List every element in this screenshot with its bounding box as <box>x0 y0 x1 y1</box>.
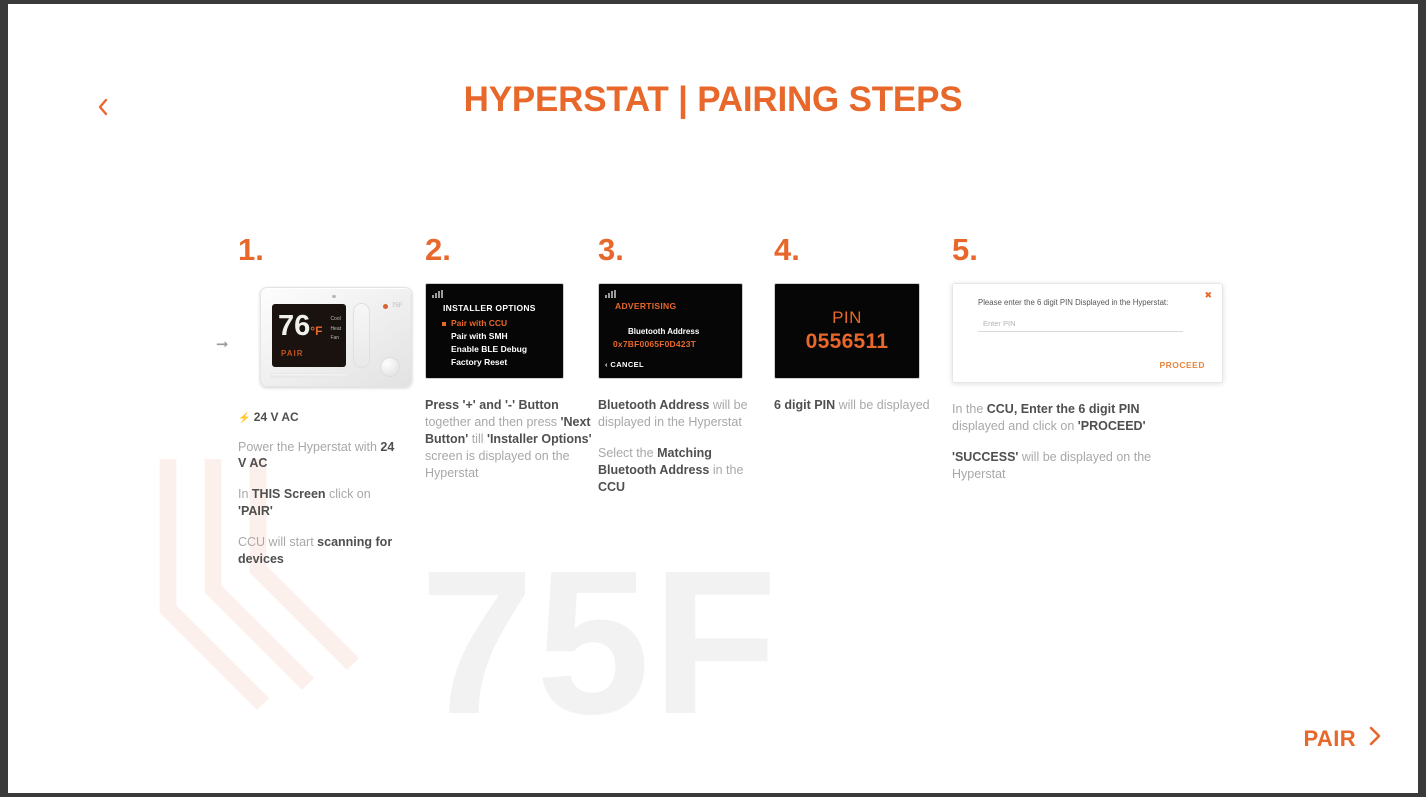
arrow-right-icon: ➞ <box>216 337 229 352</box>
screen-title: INSTALLER OPTIONS <box>443 303 536 313</box>
thermostat-knob <box>380 357 400 377</box>
screen-title: ADVERTISING <box>615 301 676 311</box>
step-number: 1. <box>238 234 406 265</box>
step-visual: ➞ 76°F Cool Heat Fan PAIR <box>238 283 406 391</box>
dialog-message: Please enter the 6 digit PIN Displayed i… <box>978 297 1178 309</box>
signal-bars-icon <box>432 290 443 298</box>
step-visual: PIN 0556511 <box>774 283 934 379</box>
pin-entry-dialog: ✖ Please enter the 6 digit PIN Displayed… <box>952 283 1223 383</box>
caption-paragraphs: 6 digit PIN will be displayed <box>774 397 934 414</box>
menu-item-factory-reset[interactable]: Factory Reset <box>443 356 527 369</box>
temperature-value: 76 <box>278 310 310 342</box>
caption-paragraph: Select the Matching Bluetooth Address in… <box>598 445 763 496</box>
pin-label: PIN <box>832 309 862 328</box>
thermostat-display: 76°F Cool Heat Fan PAIR <box>272 304 346 367</box>
pin-screen: PIN 0556511 <box>774 283 920 379</box>
thermostat-led <box>383 304 388 309</box>
step-4: 4. PIN 0556511 6 digit PIN will be displ… <box>774 234 934 414</box>
step-visual: INSTALLER OPTIONS Pair with CCU Pair wit… <box>425 283 595 379</box>
step-number: 4. <box>774 234 934 265</box>
step-visual: ADVERTISING Bluetooth Address 0x7BF0065F… <box>598 283 763 379</box>
thermostat-pair-label: PAIR <box>281 349 304 358</box>
bolt-icon: ⚡ <box>238 413 250 424</box>
cancel-label: CANCEL <box>610 360 644 369</box>
menu-item-pair-with-smh[interactable]: Pair with SMH <box>443 330 527 343</box>
thermostat-lower-trim <box>270 373 348 378</box>
menu-item-pair-with-ccu[interactable]: Pair with CCU <box>443 317 527 330</box>
installer-options-screen: INSTALLER OPTIONS Pair with CCU Pair wit… <box>425 283 564 379</box>
step-2: 2. INSTALLER OPTIONS Pair with CCU Pair … <box>425 234 595 481</box>
step-number: 5. <box>952 234 1192 265</box>
step-caption: 6 digit PIN will be displayed <box>774 397 934 414</box>
caption-paragraph: 'SUCCESS' will be displayed on the Hyper… <box>952 449 1192 483</box>
proceed-button[interactable]: PROCEED <box>1159 360 1205 370</box>
thermostat-photo: ➞ 76°F Cool Heat Fan PAIR <box>238 283 418 391</box>
step-caption: In the CCU, Enter the 6 digit PIN displa… <box>952 401 1192 483</box>
mode-row: Fan <box>330 334 341 344</box>
caption-paragraphs: Bluetooth Address will be displayed in t… <box>598 397 763 495</box>
step-caption: ⚡ 24 V AC Power the Hyperstat with 24 V … <box>238 409 406 568</box>
bluetooth-address-label: Bluetooth Address <box>628 327 699 336</box>
menu-item-enable-ble-debug[interactable]: Enable BLE Debug <box>443 343 527 356</box>
chevron-right-icon <box>1367 725 1383 752</box>
pairing-steps-row: 1. ➞ 76°F Cool Heat Fan <box>8 234 1418 564</box>
advertising-screen: ADVERTISING Bluetooth Address 0x7BF0065F… <box>598 283 743 379</box>
thermostat-mode-rows: Cool Heat Fan <box>330 315 341 344</box>
pair-label: PAIR <box>1303 726 1356 752</box>
caption-paragraph: 6 digit PIN will be displayed <box>774 397 934 414</box>
caption-paragraph: Bluetooth Address will be displayed in t… <box>598 397 763 431</box>
step-caption: Bluetooth Address will be displayed in t… <box>598 397 763 495</box>
step-visual: ✖ Please enter the 6 digit PIN Displayed… <box>952 283 1192 383</box>
caption-paragraph: Power the Hyperstat with 24 V AC <box>238 439 406 473</box>
thermostat-sensor <box>332 295 336 298</box>
pin-value: 0556511 <box>806 330 889 353</box>
installer-options-menu: Pair with CCU Pair with SMH Enable BLE D… <box>443 317 527 369</box>
caption-paragraph: Press '+' and '-' Button together and th… <box>425 397 595 481</box>
caption-paragraphs: Power the Hyperstat with 24 V ACIn THIS … <box>238 439 406 568</box>
caption-paragraph: CCU will start scanning for devices <box>238 534 406 568</box>
step-number: 3. <box>598 234 763 265</box>
cancel-button[interactable]: ‹ CANCEL <box>605 360 644 369</box>
mode-row: Heat <box>330 325 341 335</box>
close-icon[interactable]: ✖ <box>1204 291 1212 300</box>
caption-paragraphs: In the CCU, Enter the 6 digit PIN displa… <box>952 401 1192 483</box>
chevron-left-icon: ‹ <box>605 360 608 369</box>
thermostat-slider <box>353 303 370 368</box>
step-number: 2. <box>425 234 595 265</box>
page-title: HYPERSTAT | PAIRING STEPS <box>8 80 1418 120</box>
caption-paragraphs: Press '+' and '-' Button together and th… <box>425 397 595 481</box>
caption-heading-text: 24 V AC <box>254 410 299 424</box>
pair-next-button[interactable]: PAIR <box>1303 725 1383 752</box>
pin-input[interactable] <box>978 319 1183 332</box>
caption-paragraph: In THIS Screen click on 'PAIR' <box>238 486 406 520</box>
step-1: 1. ➞ 76°F Cool Heat Fan <box>238 234 406 568</box>
degree-unit: °F <box>310 324 322 338</box>
thermostat-temperature: 76°F <box>278 312 322 341</box>
step-caption: Press '+' and '-' Button together and th… <box>425 397 595 481</box>
mode-row: Cool <box>330 315 341 325</box>
bluetooth-address-value: 0x7BF0065F0D423T <box>613 339 696 349</box>
signal-bars-icon <box>605 290 616 298</box>
slide-canvas: 75F HYPERSTAT | PAIRING STEPS 1. ➞ 7 <box>8 4 1418 793</box>
step-3: 3. ADVERTISING Bluetooth Address 0x7BF00… <box>598 234 763 495</box>
step-5: 5. ✖ Please enter the 6 digit PIN Displa… <box>952 234 1192 483</box>
caption-heading: ⚡ 24 V AC <box>238 409 406 426</box>
brand-watermark: 75F <box>420 549 779 738</box>
thermostat-brand: 75F <box>392 303 402 309</box>
caption-paragraph: In the CCU, Enter the 6 digit PIN displa… <box>952 401 1192 435</box>
thermostat-body: 76°F Cool Heat Fan PAIR 75F <box>260 287 412 387</box>
